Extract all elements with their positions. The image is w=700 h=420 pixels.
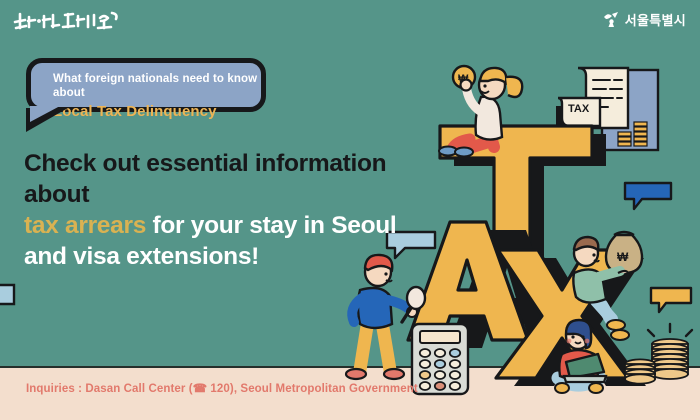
- speech-bubble-blue: [622, 180, 674, 212]
- svg-text:₩: ₩: [617, 250, 629, 264]
- headline-block: Check out essential information about ta…: [24, 148, 454, 272]
- callout-bubble: What foreign nationals need to know abou…: [26, 58, 266, 112]
- headline-line-3: and visa extensions!: [24, 241, 454, 272]
- svg-text:TAX: TAX: [568, 103, 590, 115]
- poster-canvas: 서울특별시 TAX: [0, 0, 700, 420]
- headline-line-1: Check out essential information about: [24, 148, 454, 210]
- smg-logo-text: 서울특별시: [625, 10, 686, 29]
- coin-stacks: [626, 330, 696, 392]
- seoul-brand-wordmark: [12, 8, 122, 34]
- callout-line-1: What foreign nationals need to know abou…: [53, 72, 261, 101]
- headline-line-2-rest: for your stay in Seoul: [146, 212, 396, 239]
- smg-mark-icon: [603, 11, 620, 28]
- headline-line-2: tax arrears for your stay in Seoul: [24, 210, 454, 241]
- calculator-icon: [410, 322, 472, 398]
- inquiry-text: Inquiries : Dasan Call Center (☎ 120), S…: [26, 381, 418, 395]
- headline-gold-phrase: tax arrears: [24, 212, 146, 239]
- character-woman-with-coin: ₩: [436, 55, 562, 159]
- callout-line-2: Local Tax Delinquency: [53, 102, 261, 122]
- speech-bubble-edge: [0, 282, 18, 316]
- callout-bubble-tail-fill: [30, 106, 60, 122]
- smg-logo: 서울특별시: [603, 10, 686, 29]
